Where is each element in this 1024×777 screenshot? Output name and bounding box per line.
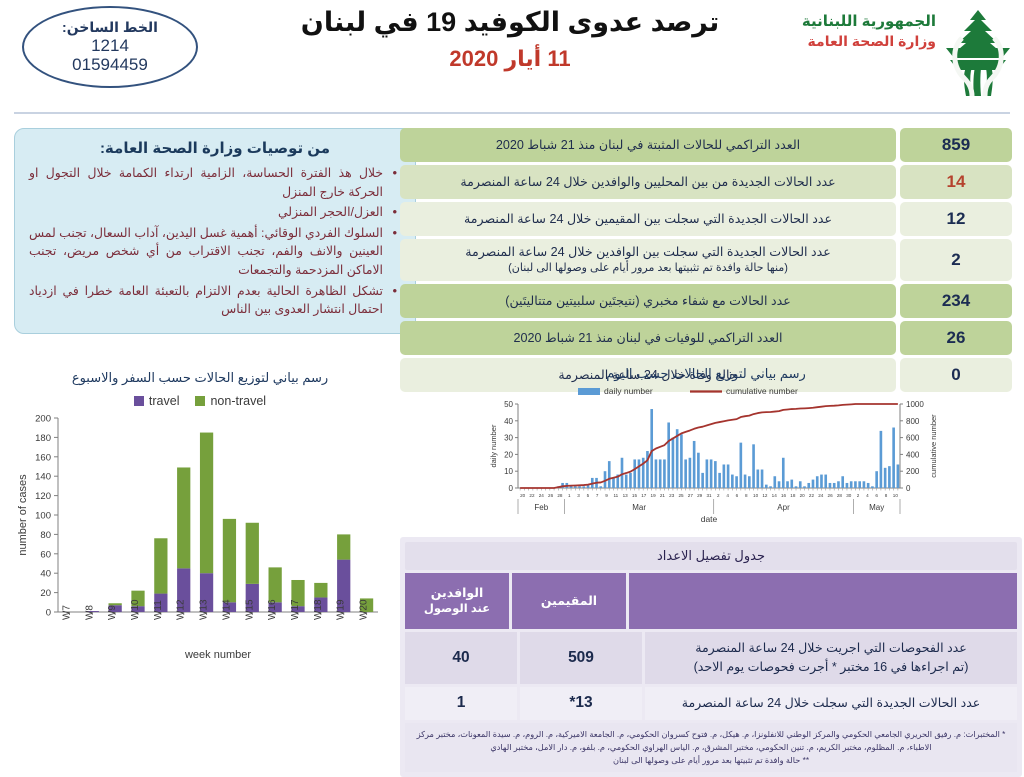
svg-text:W14: W14 [221,599,232,620]
svg-text:30: 30 [846,493,852,498]
stat-label: عدد الحالات الجديدة التي سجلت بين المقيم… [400,202,896,236]
lebanon-cedar-logo [940,4,1016,104]
legend-label: travel [149,394,180,408]
svg-text:12: 12 [762,493,768,498]
svg-text:Apr: Apr [777,503,790,512]
svg-text:13: 13 [623,493,629,498]
svg-text:28: 28 [837,493,843,498]
cases-by-day-chart: daily numbercumulative number01020304050… [400,382,1012,532]
svg-text:21: 21 [660,493,666,498]
svg-text:24: 24 [818,493,824,498]
svg-text:daily number: daily number [489,424,498,467]
cases-by-travel-and-week-chart: travel non-travel 0204060801001201401601… [14,394,386,694]
svg-text:W16: W16 [267,599,278,620]
svg-text:1000: 1000 [906,400,924,409]
title-block: ترصد عدوى الكوفيد 19 في لبنان 11 أيار 20… [250,6,770,72]
svg-text:W11: W11 [153,600,164,620]
hotline-badge: الخط الساخن: 1214 01594459 [22,6,198,88]
svg-text:19: 19 [651,493,657,498]
cell-description-note: (تم اجراءها في 16 مختبر * أجرت فحوصات يو… [694,660,969,674]
stat-value: 859 [900,128,1012,162]
svg-text:2: 2 [717,493,720,498]
svg-text:20: 20 [40,588,51,599]
bar-chart-plot: 020406080100120140160180200W7W8W9W10W11W… [14,412,386,662]
svg-text:400: 400 [906,450,920,459]
detail-table-header-row: الوافدين عند الوصول المقيمين [405,573,1017,629]
detail-table-footnotes: * المختبرات: م. رفيق الحريري الجامعي الح… [405,723,1017,772]
svg-text:8: 8 [745,493,748,498]
stat-row: عدد الحالات الجديدة التي سجلت بين المقيم… [400,202,1012,236]
svg-text:2: 2 [857,493,860,498]
svg-text:800: 800 [906,417,920,426]
svg-text:40: 40 [504,417,513,426]
daily-chart-plot: daily numbercumulative number01020304050… [400,382,1012,532]
stat-label: عدد الحالات مع شفاء مخبري (نتيجتَين سلبي… [400,284,896,318]
stat-label-main: عدد الحالات الجديدة التي سجلت بين الوافد… [465,245,831,259]
detail-table-title: جدول تفصيل الاعداد [405,542,1017,570]
hotline-number-1: 1214 [91,36,129,56]
ministry-label: وزارة الصحة العامة [802,32,936,51]
svg-text:26: 26 [548,493,554,498]
svg-text:200: 200 [35,414,51,425]
svg-text:10: 10 [893,493,899,498]
legend-swatch-travel [134,396,144,406]
detail-table: جدول تفصيل الاعداد الوافدين عند الوصول ا… [400,537,1022,777]
legend-swatch-non-travel [195,396,205,406]
svg-text:6: 6 [875,493,878,498]
svg-text:600: 600 [906,434,920,443]
svg-text:30: 30 [504,434,513,443]
svg-text:22: 22 [809,493,815,498]
stat-label: العدد التراكمي للوفيات في لبنان منذ 21 ش… [400,321,896,355]
svg-text:week number: week number [184,649,251,661]
svg-text:4: 4 [866,493,869,498]
stat-value: 2 [900,239,1012,281]
svg-text:W10: W10 [130,599,141,620]
cell-arrivals: 40 [405,632,517,684]
bar-chart-legend: travel non-travel [14,394,386,408]
header-divider [14,112,1010,114]
svg-text:23: 23 [669,493,675,498]
svg-text:27: 27 [688,493,694,498]
svg-text:28: 28 [557,493,563,498]
svg-text:W7: W7 [61,605,72,620]
svg-text:9: 9 [605,493,608,498]
recommendations-title: من توصيات وزارة الصحة العامة: [29,139,401,157]
svg-text:40: 40 [40,569,51,580]
republic-label: الجمهورية اللبنانية [802,12,936,32]
svg-text:16: 16 [781,493,787,498]
svg-text:20: 20 [800,493,806,498]
stat-row: العدد التراكمي للحالات المثبتة في لبنان … [400,128,1012,162]
cell-description: عدد الفحوصات التي اجريت خلال 24 ساعة الم… [645,632,1017,684]
recommendations-panel: من توصيات وزارة الصحة العامة: خلال هذ ال… [14,128,416,334]
svg-text:W12: W12 [176,599,187,620]
stat-label-note: (منها حالة وافدة تم تثبيتها بعد مرور أيا… [465,261,831,277]
report-date: 11 أيار 2020 [250,46,770,72]
column-header-arrivals: الوافدين عند الوصول [405,573,509,629]
svg-text:26: 26 [828,493,834,498]
svg-text:5: 5 [587,493,590,498]
svg-text:Feb: Feb [534,503,548,512]
svg-text:0: 0 [46,608,51,619]
hotline-label: الخط الساخن: [62,19,158,35]
svg-text:number of cases: number of cases [17,474,29,556]
summary-statistics: العدد التراكمي للحالات المثبتة في لبنان … [400,128,1012,395]
svg-text:6: 6 [736,493,739,498]
svg-text:cumulative number: cumulative number [726,386,798,396]
stat-label: عدد الحالات الجديدة التي سجلت بين الوافد… [400,239,896,281]
column-header-description [629,573,1017,629]
svg-text:1: 1 [568,493,571,498]
svg-text:160: 160 [35,452,51,463]
column-header-sub: عند الوصول [424,602,490,618]
dashboard-page: الخط الساخن: 1214 01594459 ترصد عدوى الك… [0,0,1024,768]
svg-text:22: 22 [529,493,535,498]
svg-text:200: 200 [906,467,920,476]
svg-text:0: 0 [906,484,911,493]
stat-row: عدد الحالات الجديدة من بين المحليين والو… [400,165,1012,199]
svg-text:Mar: Mar [632,503,646,512]
svg-text:4: 4 [726,493,729,498]
svg-text:14: 14 [772,493,778,498]
svg-text:3: 3 [577,493,580,498]
list-item: السلوك الفردي الوقائي: أهمية غسل اليدين،… [29,224,383,280]
page-header: الخط الساخن: 1214 01594459 ترصد عدوى الك… [0,0,1024,118]
list-item: العزل/الحجر المنزلي [29,203,383,222]
svg-text:10: 10 [753,493,759,498]
svg-text:60: 60 [40,549,51,560]
list-item: تشكل الظاهرة الحالية بعدم الالتزام بالتع… [29,282,383,319]
svg-text:120: 120 [35,491,51,502]
right-chart-title: رسم بياني لتوزيع الحالات حسب اليوم [400,366,1012,382]
svg-text:W13: W13 [199,599,210,620]
svg-text:20: 20 [520,493,526,498]
recommendations-list: خلال هذ الفترة الحساسة، الزامية ارتداء ا… [29,164,401,319]
stat-value: 12 [900,202,1012,236]
stat-value: 234 [900,284,1012,318]
cell-arrivals: 1 [405,687,517,720]
stat-value: 26 [900,321,1012,355]
stat-label: العدد التراكمي للحالات المثبتة في لبنان … [400,128,896,162]
stat-value: 14 [900,165,1012,199]
stat-label: عدد الحالات الجديدة من بين المحليين والو… [400,165,896,199]
legend-item-travel: travel [134,394,180,408]
svg-text:11: 11 [613,493,618,498]
ministry-wordmark: الجمهورية اللبنانية وزارة الصحة العامة [802,12,936,51]
svg-text:W15: W15 [244,599,255,620]
list-item: خلال هذ الفترة الحساسة، الزامية ارتداء ا… [29,164,383,201]
svg-text:0: 0 [509,484,514,493]
svg-text:25: 25 [678,493,684,498]
svg-text:17: 17 [641,493,647,498]
svg-text:80: 80 [40,530,51,541]
hotline-number-2: 01594459 [72,55,148,75]
svg-text:W8: W8 [84,605,95,620]
cell-description-main: عدد الفحوصات التي اجريت خلال 24 ساعة الم… [695,641,967,655]
stat-row: عدد الحالات الجديدة التي سجلت بين الوافد… [400,239,1012,281]
svg-text:W19: W19 [336,599,347,620]
svg-text:7: 7 [596,493,599,498]
legend-label: non-travel [210,394,266,408]
svg-text:W18: W18 [313,599,324,620]
column-header-residents: المقيمين [512,573,626,629]
svg-text:cumulative number: cumulative number [929,414,938,478]
stat-row: العدد التراكمي للوفيات في لبنان منذ 21 ش… [400,321,1012,355]
svg-text:15: 15 [632,493,638,498]
svg-text:8: 8 [885,493,888,498]
svg-text:140: 140 [35,472,51,483]
svg-text:29: 29 [697,493,703,498]
cell-residents: 509 [520,632,642,684]
left-chart-title: رسم بياني لتوزيع الحالات حسب السفر والاس… [14,370,386,386]
footnote: ** حالة وافدة تم تثبيتها بعد مرور أيام ع… [413,754,1009,767]
table-row: 1 *13 عدد الحالات الجديدة التي سجلت خلال… [405,687,1017,720]
footnote: * المختبرات: م. رفيق الحريري الجامعي الح… [413,728,1009,754]
svg-text:18: 18 [790,493,796,498]
svg-text:date: date [701,514,718,524]
cell-residents: *13 [520,687,642,720]
svg-text:10: 10 [504,467,513,476]
svg-text:20: 20 [504,450,513,459]
svg-text:May: May [869,503,884,512]
page-title: ترصد عدوى الكوفيد 19 في لبنان [250,6,770,40]
table-row: 40 509 عدد الفحوصات التي اجريت خلال 24 س… [405,632,1017,684]
legend-item-non-travel: non-travel [195,394,266,408]
cell-description: عدد الحالات الجديدة التي سجلت خلال 24 سا… [645,687,1017,720]
svg-text:180: 180 [35,433,51,444]
stat-row: عدد الحالات مع شفاء مخبري (نتيجتَين سلبي… [400,284,1012,318]
svg-text:24: 24 [539,493,545,498]
svg-text:31: 31 [706,493,712,498]
svg-text:W9: W9 [107,605,118,620]
svg-text:50: 50 [504,400,513,409]
column-header-main: الوافدين [431,585,483,602]
svg-text:W17: W17 [290,599,301,620]
svg-text:daily number: daily number [604,386,653,396]
svg-text:W20: W20 [359,599,370,620]
column-header-main: المقيمين [541,593,597,610]
svg-text:100: 100 [35,511,51,522]
